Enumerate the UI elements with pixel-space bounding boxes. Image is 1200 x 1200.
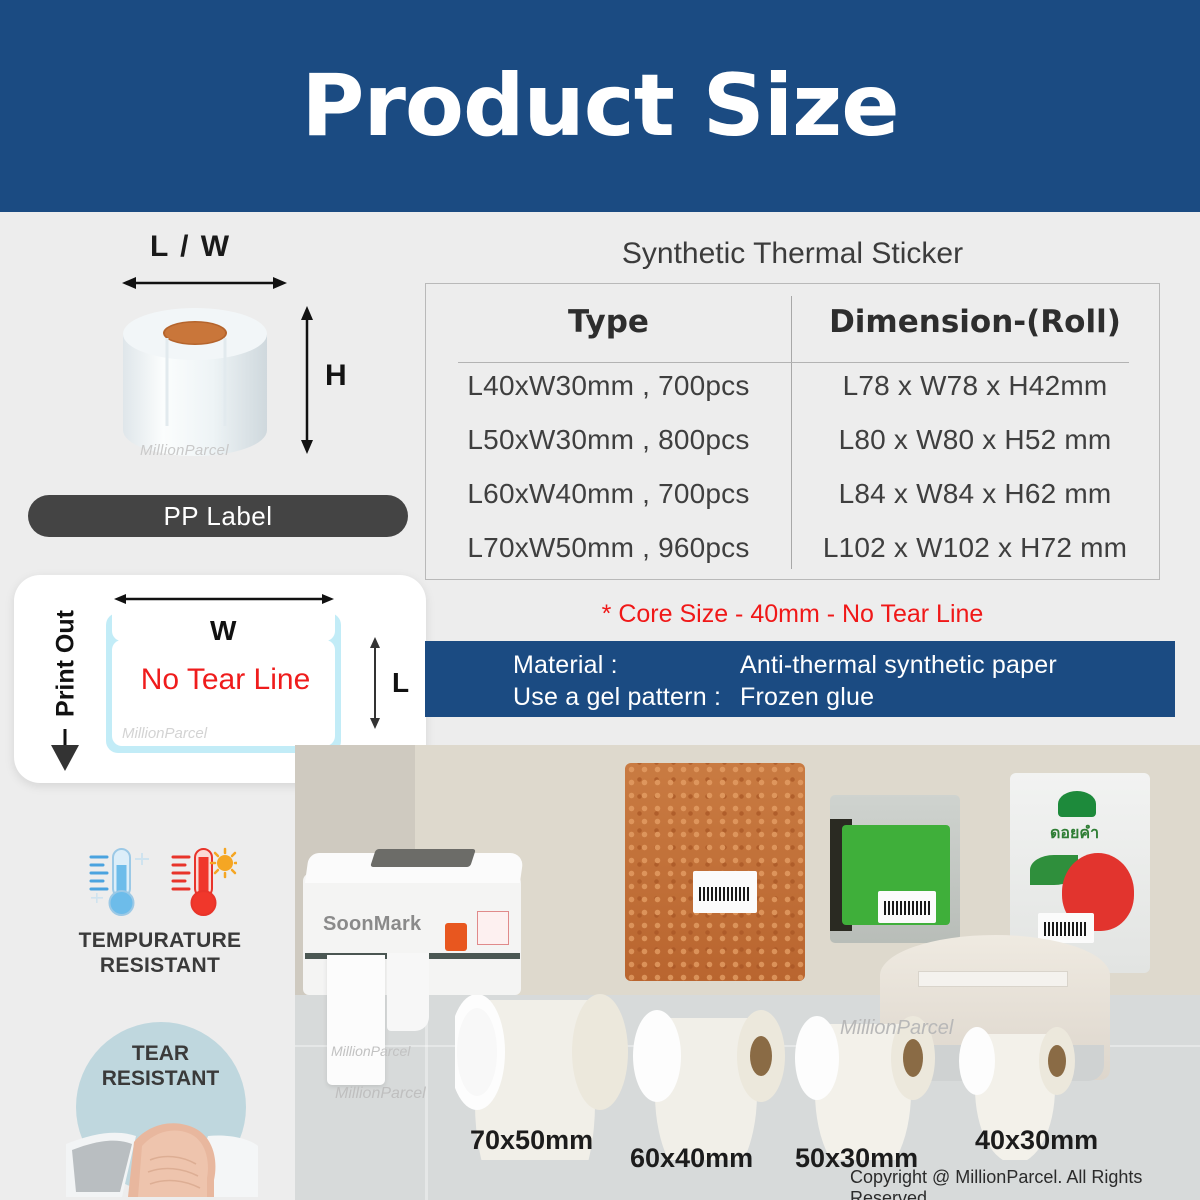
feature-tear-resistant: TEAR RESISTANT <box>58 1022 263 1197</box>
barcode-icon <box>1044 922 1088 936</box>
roll-width-label: L / W <box>150 230 231 264</box>
cell-type: L60xW40mm , 700pcs <box>426 467 791 521</box>
copyright-text: Copyright @ MillionParcel. All Rights Re… <box>850 1167 1200 1200</box>
cell-dimension: L80 x W80 x H52 mm <box>791 413 1159 467</box>
printer-power-button[interactable] <box>445 923 467 951</box>
printer-warning-sticker <box>477 911 509 945</box>
column-header-type: Type <box>426 284 791 359</box>
gel-pattern-label: Use a gel pattern : <box>513 683 721 712</box>
peanut-bag <box>625 763 805 981</box>
no-tear-line-text: No Tear Line <box>118 663 333 697</box>
table-row: L60xW40mm , 700pcs L84 x W84 x H62 mm <box>426 467 1159 521</box>
doikham-logo-icon <box>1058 791 1096 817</box>
table-column-divider <box>791 296 792 569</box>
roll-height-label: H <box>325 359 347 393</box>
cell-type: L40xW30mm , 700pcs <box>426 359 791 413</box>
sticker-width-arrow-icon <box>114 593 334 605</box>
cell-dimension: L102 x W102 x H72 mm <box>791 521 1159 575</box>
printer-watermark: MillionParcel <box>335 1085 426 1103</box>
table-title: Synthetic Thermal Sticker <box>425 237 1160 271</box>
printed-label-strip <box>327 955 385 1085</box>
table-row: L70xW50mm , 960pcs L102 x W102 x H72 mm <box>426 521 1159 575</box>
printer-display <box>370 849 476 867</box>
tear-card-watermark: MillionParcel <box>122 725 207 742</box>
tear-caption: TEAR RESISTANT <box>58 1042 263 1092</box>
roll-60x40 <box>633 1010 785 1160</box>
table-row: L40xW30mm , 700pcs L78 x W78 x H42mm <box>426 359 1159 413</box>
strawberry-brand-text: ดอยคำ <box>1050 821 1099 846</box>
page-title: Product Size <box>301 56 898 156</box>
material-value: Anti-thermal synthetic paper <box>740 651 1057 680</box>
printed-label-watermark: MillionParcel <box>331 1043 410 1059</box>
infographic-page: Product Size L / W MillionParcel <box>0 0 1200 1200</box>
peanut-bag-label <box>693 871 757 913</box>
cell-dimension: L78 x W78 x H42mm <box>791 359 1159 413</box>
cell-type: L70xW50mm , 960pcs <box>426 521 791 575</box>
barcode-icon <box>699 887 751 901</box>
height-arrow-icon <box>300 306 314 454</box>
roll-caption-60x40: 60x40mm <box>630 1143 753 1174</box>
barcode-icon <box>884 901 930 915</box>
product-photo: ดอยคำ <box>295 745 1200 1200</box>
print-direction-arrow-icon <box>50 729 80 771</box>
roll-caption-40x30: 40x30mm <box>975 1125 1098 1156</box>
temperature-caption-line2: RESISTANT <box>55 954 265 979</box>
sticker-length-arrow-icon <box>369 637 381 729</box>
peel-finger-icon <box>58 1084 263 1197</box>
core-size-note: * Core Size - 40mm - No Tear Line <box>425 600 1160 629</box>
tear-caption-line1: TEAR <box>58 1042 263 1067</box>
material-label: Material : <box>513 651 618 680</box>
gel-pattern-value: Frozen glue <box>740 683 874 712</box>
spec-table: Type Dimension-(Roll) L40xW30mm , 700pcs… <box>425 283 1160 580</box>
material-info-band: Material : Anti-thermal synthetic paper … <box>425 641 1175 717</box>
column-header-dimension: Dimension-(Roll) <box>791 284 1159 359</box>
table-row: L50xW30mm , 800pcs L80 x W80 x H52 mm <box>426 413 1159 467</box>
print-out-label: Print Out <box>52 604 81 724</box>
table-header-row: Type Dimension-(Roll) <box>426 284 1159 359</box>
cold-thermometer-icon <box>83 845 153 919</box>
temperature-caption-line1: TEMPURATURE <box>55 929 265 954</box>
feature-temperature-resistant: TEMPURATURE RESISTANT <box>55 845 265 979</box>
sticker-length-label: L <box>392 667 409 699</box>
cell-type: L50xW30mm , 800pcs <box>426 413 791 467</box>
photo-watermark: MillionParcel <box>840 1017 953 1040</box>
thermometer-icons <box>55 845 265 919</box>
temperature-caption: TEMPURATURE RESISTANT <box>55 929 265 979</box>
cell-dimension: L84 x W84 x H62 mm <box>791 467 1159 521</box>
table-header-rule <box>458 362 1129 363</box>
seaweed-snack-bag <box>830 795 960 943</box>
printer-brand-text: SoonMark <box>323 913 421 936</box>
header-banner: Product Size <box>0 0 1200 212</box>
tear-caption-line2: RESISTANT <box>58 1067 263 1092</box>
hot-thermometer-icon <box>167 845 237 919</box>
pp-label-badge: PP Label <box>28 495 408 537</box>
sticker-width-label: W <box>210 615 236 647</box>
seaweed-bag-label <box>878 891 936 923</box>
printer-paper-fold <box>387 953 429 1031</box>
roll-caption-70x50: 70x50mm <box>470 1125 593 1156</box>
width-arrow-icon <box>122 276 287 290</box>
roll-watermark: MillionParcel <box>140 442 229 459</box>
print-out-indicator: Print Out <box>42 597 90 767</box>
pp-label-text: PP Label <box>163 501 272 532</box>
